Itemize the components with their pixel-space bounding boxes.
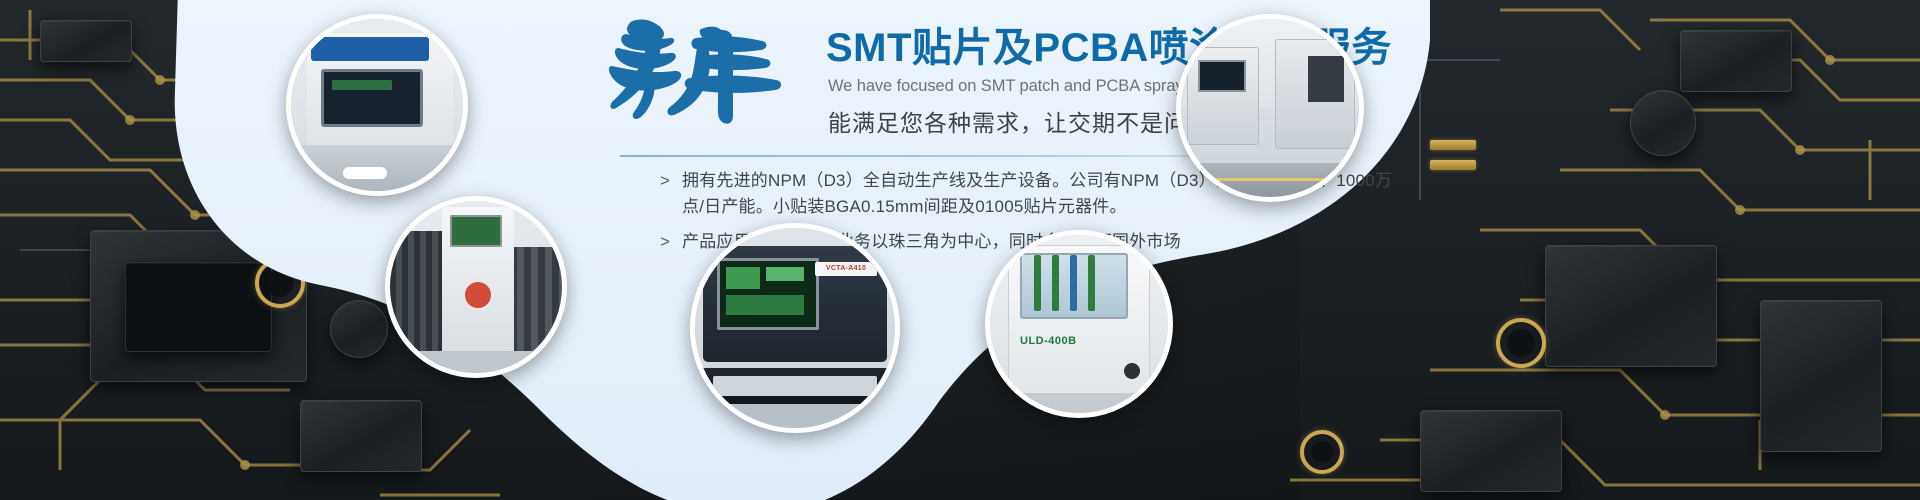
photo-caption-uld: ULD-400B [1020, 335, 1077, 347]
photo-aoi-inspection-machine: VCTA-A410 [690, 223, 900, 433]
brush-calligraphy-duonian [600, 8, 790, 128]
photo-pick-and-place-machine [385, 196, 567, 378]
chevron-right-icon: > [660, 168, 682, 194]
photo-uld-loader-machine: ULD-400B [985, 230, 1173, 418]
photo-smt-production-line [1176, 14, 1364, 202]
banner-root: SMT贴片及PCBA喷涂装配服务 We have focused on SMT … [0, 0, 1920, 500]
photo-solder-paste-printer [286, 14, 468, 196]
subtitle-chinese: 能满足您各种需求，让交期不是问题 [828, 104, 1212, 138]
photo-caption-aoi: VCTA-A410 [815, 262, 877, 276]
chevron-right-icon: > [660, 229, 682, 255]
